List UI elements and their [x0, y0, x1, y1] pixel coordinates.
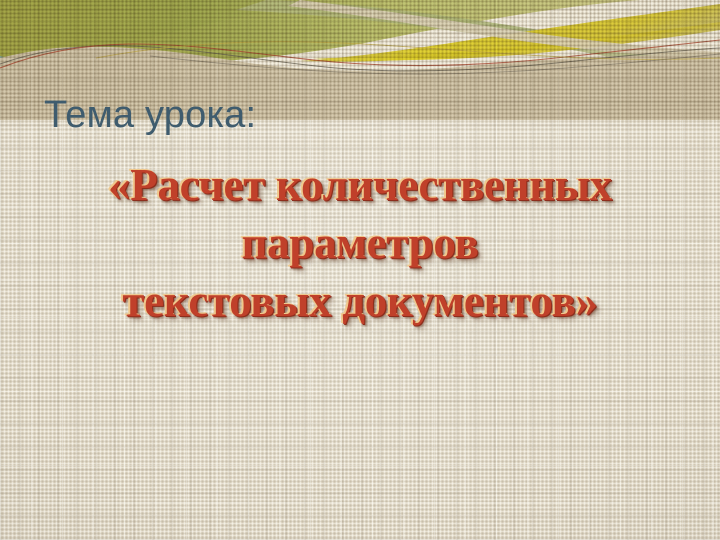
slide-text-layer: Тема урока: «Расчет количественных парам… [0, 0, 720, 540]
presentation-slide: Тема урока: «Расчет количественных парам… [0, 0, 720, 540]
slide-title-line-2: параметров [10, 214, 710, 272]
slide-subtitle: Тема урока: [44, 96, 256, 136]
slide-title: «Расчет количественных параметров тексто… [10, 156, 710, 330]
slide-title-line-1: «Расчет количественных [10, 156, 710, 214]
slide-title-line-3: текстовых документов» [10, 272, 710, 330]
